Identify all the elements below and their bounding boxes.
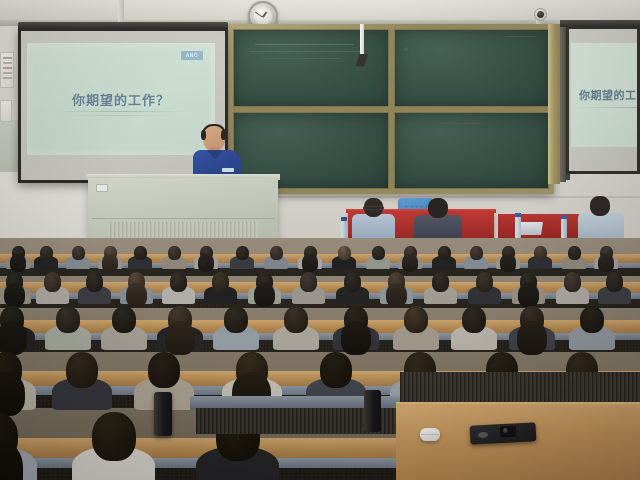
water-bottle-1	[341, 220, 347, 240]
audience-member-head	[148, 352, 180, 388]
audience-member-long-hair	[517, 321, 547, 355]
audience-member-head	[438, 246, 451, 260]
eyeglasses-icon	[363, 206, 384, 210]
audience-member-head	[284, 306, 308, 333]
blackboard-panel-top-right	[394, 29, 550, 107]
audience-member-long-hair	[165, 321, 195, 355]
presentation-slide: ANO 你期望的工作？	[27, 43, 215, 155]
audience-member-head	[134, 246, 147, 260]
audience-member-head	[56, 306, 80, 333]
audience-member-head	[168, 246, 181, 260]
audience-member-long-hair	[102, 254, 118, 272]
audience-member-long-hair	[0, 321, 27, 355]
projection-screen-secondary[interactable]: 你期望的工	[566, 26, 640, 174]
blackboard	[228, 24, 554, 194]
audience-member-head	[44, 272, 61, 292]
lectern-vent	[110, 222, 258, 238]
audience-member-long-hair	[598, 254, 614, 272]
audience-member-head	[40, 246, 53, 260]
audience-member-head	[470, 246, 483, 260]
slide-divider	[53, 111, 189, 112]
slide-title-2: 你期望的工	[579, 87, 637, 103]
audience-member-head	[564, 272, 581, 292]
water-bottle-foreground-1	[154, 392, 172, 436]
screen-surface-2: 你期望的工	[569, 29, 637, 171]
audience-member-long-hair	[302, 254, 318, 272]
blackboard-panels	[233, 29, 549, 189]
audience-member-long-hair	[341, 321, 371, 355]
audience-member-head	[534, 246, 547, 260]
audience-member-head	[372, 246, 385, 260]
camera-lens-icon	[537, 11, 544, 18]
bottle-cap-3	[561, 215, 567, 219]
audience-member-long-hair	[198, 254, 214, 272]
slide-logo: ANO	[181, 51, 203, 60]
desk-mesh-front	[400, 372, 640, 404]
water-bottle-foreground-2	[364, 390, 381, 432]
notice-board-2	[0, 100, 12, 122]
presentation-slide-2: 你期望的工	[571, 43, 637, 147]
wall-pillar	[548, 24, 560, 184]
audience-member-long-hair	[10, 254, 26, 272]
audience-member-long-hair	[386, 283, 408, 308]
front-row-person-2-head	[428, 198, 448, 218]
audience-member-head	[86, 272, 103, 292]
audience-member-head	[212, 272, 229, 292]
front-table-right	[498, 214, 590, 238]
audience-member-head	[236, 246, 249, 260]
audience-member-head	[224, 306, 248, 333]
audience-member-head	[606, 272, 623, 292]
lectern-seam	[92, 218, 274, 219]
audience-member-head	[92, 412, 136, 461]
audience-member-head	[300, 272, 317, 292]
presenter-hair-left	[201, 130, 206, 140]
audience-member-head	[476, 272, 493, 292]
blackboard-panel-bottom-right	[394, 112, 550, 190]
audience-member-head	[170, 272, 187, 292]
audience-member-head	[320, 352, 352, 388]
audience-member-long-hair	[4, 283, 26, 308]
audience-member-long-hair	[500, 254, 516, 272]
audience-member-long-hair	[518, 283, 540, 308]
audience-member-head	[568, 246, 581, 260]
bottle-cap-1	[341, 217, 347, 221]
audience-member-head	[112, 306, 136, 333]
audience-member-long-hair	[254, 283, 276, 308]
slide-title: 你期望的工作？	[27, 90, 215, 109]
audience-member-head	[404, 306, 428, 333]
audience-member-head	[344, 272, 361, 292]
lectern-label-plate	[96, 184, 108, 192]
audience-member-head	[270, 246, 283, 260]
audience-member-head	[338, 246, 351, 260]
front-row-person-3-head	[590, 196, 610, 216]
slide-divider-3	[573, 107, 637, 108]
notice-board	[0, 52, 14, 88]
audience-member-head	[432, 272, 449, 292]
audience-member-head	[66, 352, 98, 388]
water-bottle-3	[561, 218, 567, 238]
desk-surface-front	[396, 406, 640, 480]
lecture-hall-photo: ANO 你期望的工作？ 你期望的工	[0, 0, 640, 480]
audience-member-long-hair	[402, 254, 418, 272]
laptop	[519, 222, 543, 235]
slide-divider-2	[67, 115, 175, 116]
blackboard-panel-top-left	[233, 29, 389, 107]
audience-member-head	[462, 306, 486, 333]
hanging-microphone-cable	[360, 24, 364, 56]
water-bottle-2	[515, 216, 521, 238]
audience-member-head	[72, 246, 85, 260]
audience-member-long-hair	[126, 283, 148, 308]
presenter-hair-right	[221, 130, 226, 140]
earbuds-case-seam	[421, 434, 439, 435]
audience-member-head	[580, 306, 604, 333]
bottle-cap-2	[515, 213, 521, 217]
presenter-shirt-logo	[222, 168, 234, 172]
